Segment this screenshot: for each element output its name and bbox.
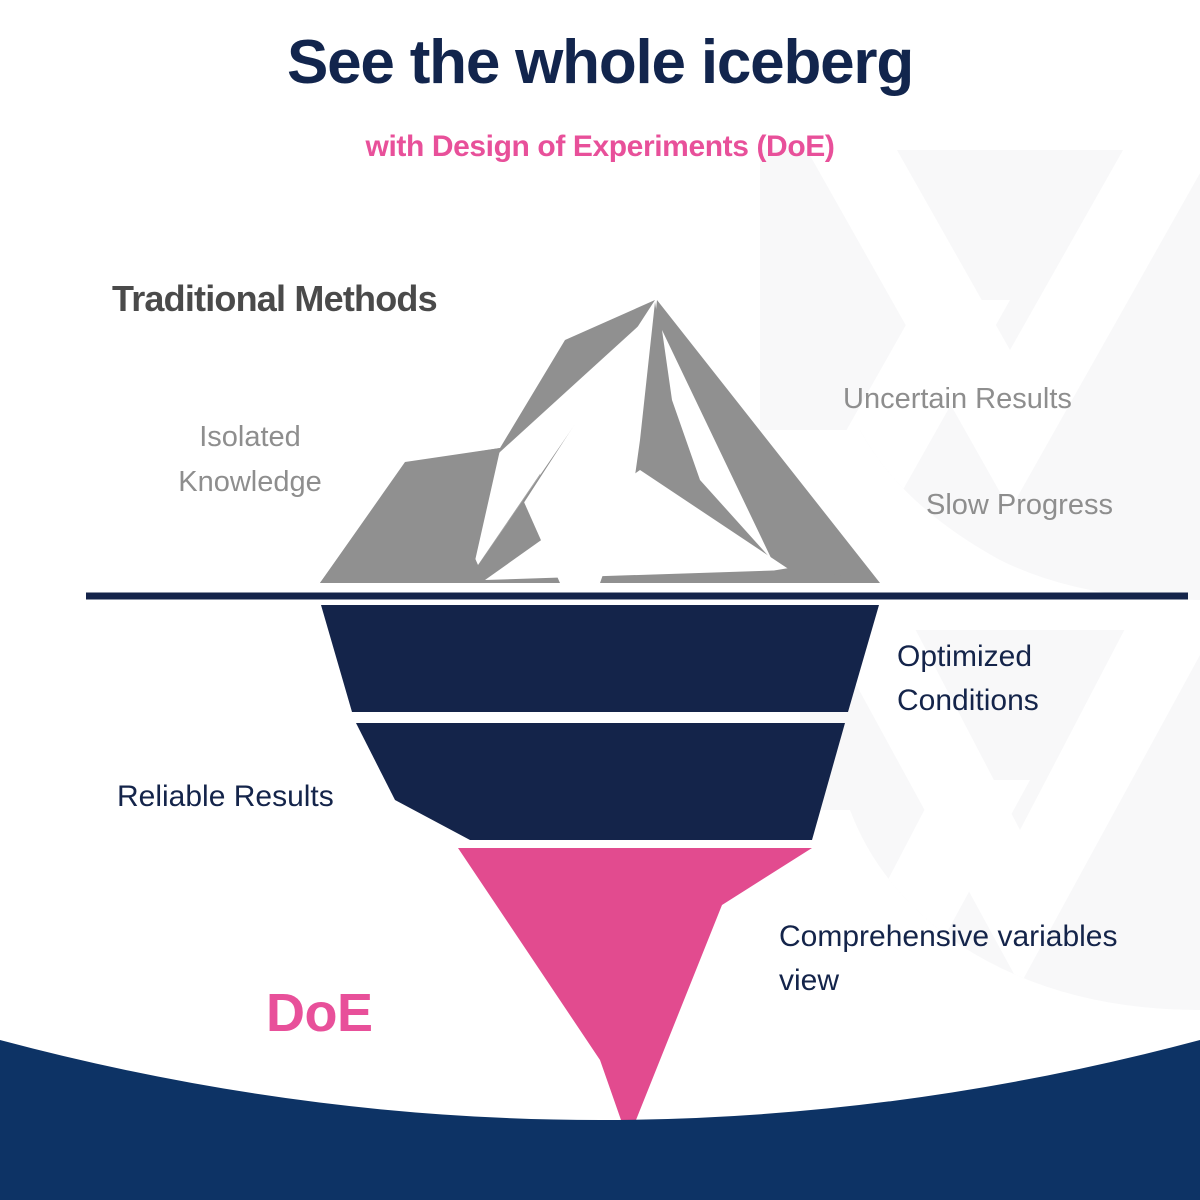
infographic-canvas: See the whole iceberg with Design of Exp…	[0, 0, 1200, 1200]
callout-isolated-knowledge: Isolated Knowledge	[135, 415, 365, 505]
brand-label-doe: DoE	[266, 982, 373, 1044]
callout-reliable-results: Reliable Results	[117, 775, 334, 819]
page-subtitle: with Design of Experiments (DoE)	[0, 130, 1200, 163]
section-label-traditional-methods: Traditional Methods	[112, 278, 437, 320]
callout-comprehensive-variables-view: Comprehensive variables view	[779, 915, 1179, 1003]
callout-uncertain-results: Uncertain Results	[843, 378, 1072, 422]
text-layer: See the whole iceberg with Design of Exp…	[0, 0, 1200, 1200]
callout-slow-progress: Slow Progress	[926, 484, 1113, 528]
page-title: See the whole iceberg	[0, 30, 1200, 95]
callout-optimized-conditions: Optimized Conditions	[897, 635, 1157, 723]
